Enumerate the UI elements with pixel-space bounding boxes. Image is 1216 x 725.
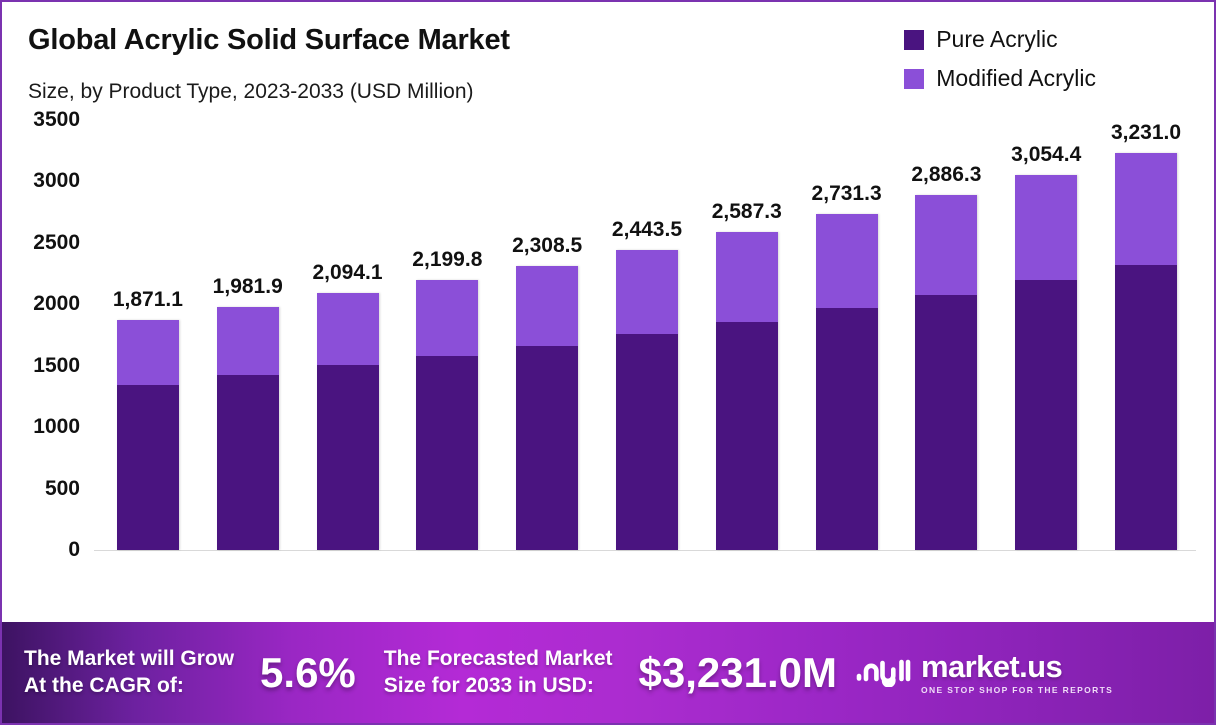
bar-value-label: 2,443.5 — [612, 218, 682, 242]
bar-segment-pure-acrylic[interactable] — [416, 356, 478, 550]
cagr-caption-line1: The Market will Grow — [24, 646, 234, 673]
bar-segment-pure-acrylic[interactable] — [716, 322, 778, 551]
chart-header: Global Acrylic Solid Surface Market Size… — [2, 2, 1214, 120]
bar-segment-pure-acrylic[interactable] — [117, 385, 179, 550]
cagr-caption: The Market will Grow At the CAGR of: — [24, 646, 234, 700]
brand-tagline: ONE STOP SHOP FOR THE REPORTS — [921, 686, 1113, 695]
bar-group: 1,871.11,981.92,094.12,199.82,308.52,443… — [98, 120, 1196, 550]
forecast-caption: The Forecasted Market Size for 2033 in U… — [384, 646, 613, 700]
bar-column[interactable]: 2,587.3 — [716, 120, 778, 550]
forecast-value: $3,231.0M — [639, 649, 837, 697]
bar-segment-modified-acrylic[interactable] — [716, 232, 778, 321]
bar-value-label: 3,231.0 — [1111, 121, 1181, 145]
bar-value-label: 2,731.3 — [812, 182, 882, 206]
bar-stack[interactable] — [915, 195, 977, 550]
bar-segment-modified-acrylic[interactable] — [1015, 175, 1077, 281]
bar-segment-pure-acrylic[interactable] — [915, 295, 977, 550]
bar-column[interactable]: 2,731.3 — [816, 120, 878, 550]
bar-segment-pure-acrylic[interactable] — [516, 346, 578, 550]
bar-value-label: 1,981.9 — [213, 275, 283, 299]
chart-subtitle: Size, by Product Type, 2023-2033 (USD Mi… — [28, 80, 474, 104]
bar-value-label: 2,094.1 — [312, 261, 382, 285]
bar-value-label: 2,886.3 — [911, 163, 981, 187]
bar-segment-pure-acrylic[interactable] — [816, 308, 878, 550]
cagr-value: 5.6% — [260, 649, 356, 697]
chart-infographic: Global Acrylic Solid Surface Market Size… — [0, 0, 1216, 725]
y-axis-tick-label: 500 — [45, 477, 80, 501]
forecast-caption-line2: Size for 2033 in USD: — [384, 673, 613, 700]
y-axis-tick-label: 0 — [68, 538, 80, 562]
legend-item[interactable]: Pure Acrylic — [904, 26, 1096, 53]
bar-value-label: 1,871.1 — [113, 288, 183, 312]
brand-name: market.us — [921, 651, 1113, 682]
legend-item-label: Pure Acrylic — [936, 26, 1057, 53]
bar-value-label: 2,308.5 — [512, 234, 582, 258]
bar-column[interactable]: 2,443.5 — [616, 120, 678, 550]
bar-segment-modified-acrylic[interactable] — [616, 250, 678, 334]
bar-segment-pure-acrylic[interactable] — [1015, 280, 1077, 550]
bar-column[interactable]: 1,981.9 — [217, 120, 279, 550]
bar-column[interactable]: 2,886.3 — [915, 120, 977, 550]
bar-column[interactable]: 2,094.1 — [317, 120, 379, 550]
page-title: Global Acrylic Solid Surface Market — [28, 24, 510, 57]
bar-column[interactable]: 3,231.0 — [1115, 120, 1177, 550]
brand-words: market.us ONE STOP SHOP FOR THE REPORTS — [921, 651, 1113, 695]
summary-banner: The Market will Grow At the CAGR of: 5.6… — [2, 622, 1214, 723]
bar-stack[interactable] — [816, 214, 878, 550]
bar-value-label: 3,054.4 — [1011, 143, 1081, 167]
y-axis-tick-label: 1500 — [33, 354, 80, 378]
bar-column[interactable]: 1,871.1 — [117, 120, 179, 550]
bar-segment-modified-acrylic[interactable] — [516, 266, 578, 345]
bar-segment-modified-acrylic[interactable] — [1115, 153, 1177, 265]
y-axis-tick-label: 2000 — [33, 292, 80, 316]
y-axis: 0500100015002000250030003500 — [2, 120, 90, 620]
market-us-logo-icon — [855, 653, 911, 692]
bar-segment-modified-acrylic[interactable] — [217, 307, 279, 376]
cagr-caption-line2: At the CAGR of: — [24, 673, 234, 700]
plot-area: 0500100015002000250030003500 1,871.11,98… — [2, 120, 1214, 620]
bar-stack[interactable] — [217, 307, 279, 550]
forecast-caption-line1: The Forecasted Market — [384, 646, 613, 673]
legend-item[interactable]: Modified Acrylic — [904, 65, 1096, 92]
bar-stack[interactable] — [616, 250, 678, 550]
brand-logo: market.us ONE STOP SHOP FOR THE REPORTS — [855, 651, 1113, 695]
bar-segment-pure-acrylic[interactable] — [616, 334, 678, 550]
y-axis-tick-label: 2500 — [33, 231, 80, 255]
legend-swatch-pure — [904, 30, 924, 50]
bar-segment-modified-acrylic[interactable] — [117, 320, 179, 385]
bar-column[interactable]: 2,308.5 — [516, 120, 578, 550]
y-axis-tick-label: 3000 — [33, 169, 80, 193]
bar-segment-pure-acrylic[interactable] — [217, 375, 279, 550]
bar-segment-modified-acrylic[interactable] — [816, 214, 878, 308]
legend-swatch-modified — [904, 69, 924, 89]
bar-stack[interactable] — [416, 280, 478, 550]
legend-item-label: Modified Acrylic — [936, 65, 1096, 92]
bar-segment-modified-acrylic[interactable] — [915, 195, 977, 295]
bar-column[interactable]: 2,199.8 — [416, 120, 478, 550]
bar-segment-pure-acrylic[interactable] — [1115, 265, 1177, 550]
y-axis-tick-label: 1000 — [33, 415, 80, 439]
y-axis-tick-label: 3500 — [33, 108, 80, 132]
bar-stack[interactable] — [716, 232, 778, 550]
x-axis-line — [94, 550, 1196, 551]
bar-segment-pure-acrylic[interactable] — [317, 365, 379, 550]
chart-legend: Pure AcrylicModified Acrylic — [904, 26, 1096, 92]
bar-value-label: 2,587.3 — [712, 200, 782, 224]
bar-stack[interactable] — [317, 293, 379, 550]
bar-segment-modified-acrylic[interactable] — [317, 293, 379, 366]
bar-stack[interactable] — [516, 266, 578, 550]
bar-column[interactable]: 3,054.4 — [1015, 120, 1077, 550]
bar-value-label: 2,199.8 — [412, 248, 482, 272]
bar-segment-modified-acrylic[interactable] — [416, 280, 478, 356]
bar-stack[interactable] — [1015, 175, 1077, 550]
bar-stack[interactable] — [1115, 153, 1177, 550]
bar-stack[interactable] — [117, 320, 179, 550]
